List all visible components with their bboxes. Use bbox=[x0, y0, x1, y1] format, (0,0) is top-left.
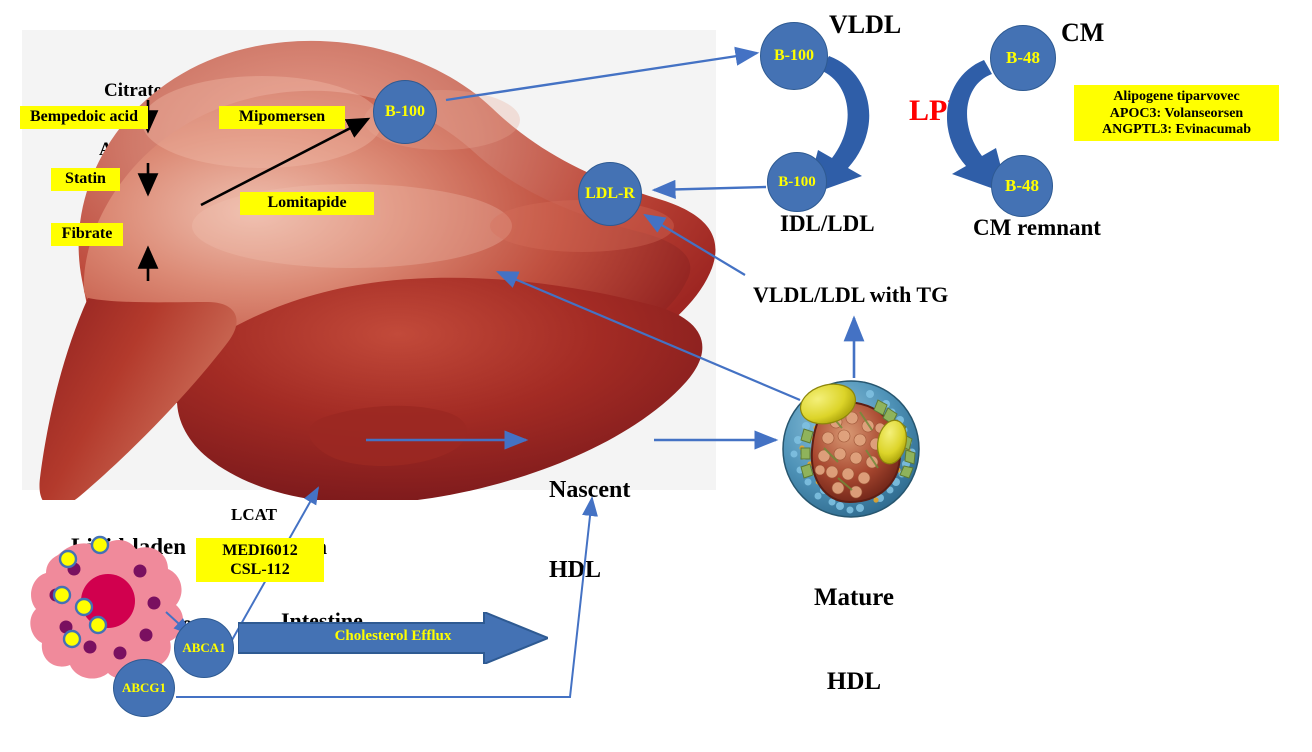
drug-line-csl112: CSL-112 bbox=[202, 561, 318, 580]
ldl-uptake-arrow bbox=[654, 187, 766, 190]
abcg1-circle: ABCG1 bbox=[113, 659, 175, 717]
drug-line-angptl3: ANGPTL3: Evinacumab bbox=[1080, 122, 1273, 139]
drug-box-lcat-activators: MEDI6012 CSL-112 bbox=[196, 538, 324, 582]
hdl-to-liver-arrow bbox=[498, 272, 800, 400]
abcg1-efflux-path-arrow bbox=[176, 498, 592, 697]
cm-apo-circle: B-48 bbox=[990, 25, 1056, 91]
vldl-apo-circle: B-100 bbox=[760, 22, 828, 90]
ldl-receptor-circle: LDL-R bbox=[578, 162, 642, 226]
idl-ldl-apo-circle: B-100 bbox=[767, 152, 827, 212]
cholesterol-efflux-label: Cholesterol Efflux bbox=[238, 628, 548, 645]
drug-box-fibrate: Fibrate bbox=[51, 223, 123, 246]
drug-line-alipogene: Alipogene tiparvovec bbox=[1080, 89, 1273, 106]
drug-box-statin: Statin bbox=[51, 168, 120, 191]
vldl-secretion-arrow bbox=[446, 53, 757, 100]
drug-box-bempedoic-acid: Bempedoic acid bbox=[20, 106, 148, 129]
abca1-circle: ABCA1 bbox=[174, 618, 234, 678]
drug-box-mipomersen: Mipomersen bbox=[219, 106, 345, 129]
cm-remnant-apo-circle: B-48 bbox=[991, 155, 1053, 217]
drug-line-medi6012: MEDI6012 bbox=[202, 542, 318, 561]
drug-line-apoc3: APOC3: Volanseorsen bbox=[1080, 106, 1273, 123]
drug-box-tg-lowering: Alipogene tiparvovec APOC3: Volanseorsen… bbox=[1074, 85, 1279, 141]
liver-b100-circle: B-100 bbox=[373, 80, 437, 144]
drug-box-lomitapide: Lomitapide bbox=[240, 192, 374, 215]
diagram-canvas: Cholesterol Efflux Citrate Acetyl-CoA Ch… bbox=[0, 0, 1312, 732]
vldl-ldl-tg-arrow bbox=[645, 215, 745, 275]
